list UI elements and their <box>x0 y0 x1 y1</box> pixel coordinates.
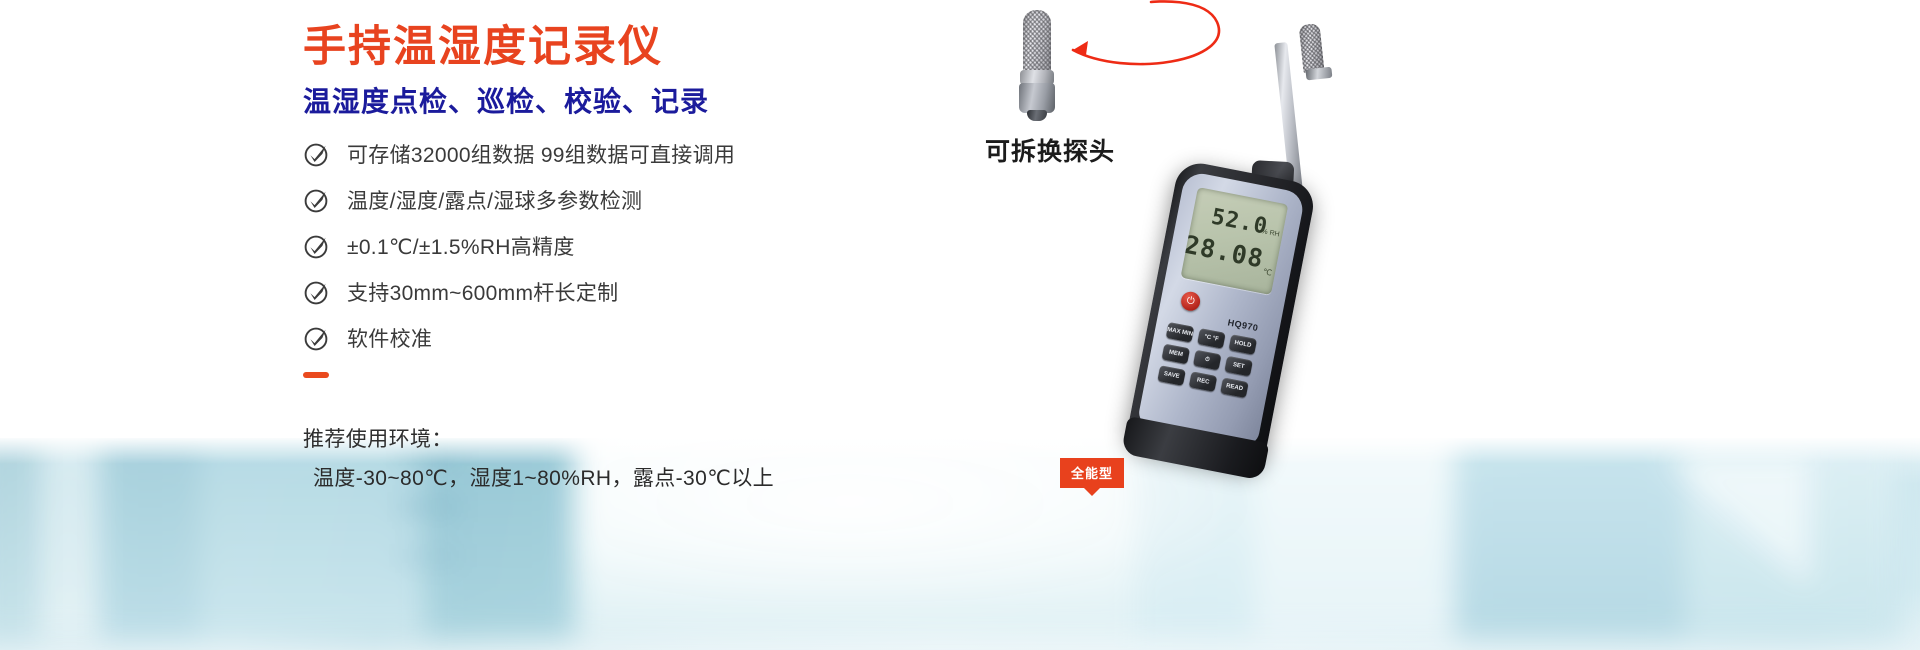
device-probe-mesh <box>1299 23 1325 73</box>
list-item: 支持30mm~600mm杆长定制 <box>303 269 735 315</box>
product-banner: 手持温湿度记录仪 温湿度点检、巡检、校验、记录 可存储32000组数据 99组数… <box>0 0 1920 650</box>
device-key[interactable]: ⏱ <box>1193 350 1222 371</box>
background-blur-layer <box>0 438 1920 650</box>
device-keypad: MAX MIN °C °F HOLD MEM ⏱ SET SAVE REC RE… <box>1146 321 1269 437</box>
list-item-label: 温度/湿度/露点/湿球多参数检测 <box>347 185 642 215</box>
list-item: 温度/湿度/露点/湿球多参数检测 <box>303 177 735 223</box>
device-key[interactable]: SAVE <box>1157 365 1186 386</box>
temperature-unit: ℃ <box>1262 267 1273 278</box>
background-photo-band <box>0 438 1920 650</box>
device-key[interactable]: READ <box>1220 377 1249 398</box>
device-lcd-screen: HENGKO 52.0 % RH 28.08 ℃ <box>1180 187 1288 295</box>
list-item-label: 软件校准 <box>347 323 432 353</box>
check-circle-icon <box>303 232 331 260</box>
page-title: 手持温湿度记录仪 <box>303 12 663 74</box>
check-circle-icon <box>303 140 331 168</box>
bg-shelf <box>400 500 460 514</box>
list-item-label: 可存储32000组数据 99组数据可直接调用 <box>347 139 735 169</box>
device-key[interactable]: SET <box>1224 356 1253 377</box>
device-key[interactable]: REC <box>1189 371 1218 392</box>
bg-column <box>0 438 40 638</box>
check-circle-icon <box>303 324 331 352</box>
device-key[interactable]: MEM <box>1162 344 1191 365</box>
list-item-label: 支持30mm~600mm杆长定制 <box>347 277 618 307</box>
list-item: 可存储32000组数据 99组数据可直接调用 <box>303 131 735 177</box>
environment-title: 推荐使用环境： <box>303 423 453 453</box>
bg-shelf <box>400 550 460 562</box>
list-item-label: ±0.1℃/±1.5%RH高精度 <box>347 231 575 261</box>
environment-detail: 温度-30~80℃，湿度1~80%RH，露点-30℃以上 <box>313 462 774 492</box>
feature-list: 可存储32000组数据 99组数据可直接调用 温度/湿度/露点/湿球多参数检测 … <box>303 131 735 361</box>
check-circle-icon <box>303 186 331 214</box>
check-circle-icon <box>303 278 331 306</box>
bg-column <box>40 438 100 638</box>
bg-column <box>1455 438 1685 638</box>
bg-highlight-triangle <box>1660 458 1810 588</box>
page-subtitle: 温湿度点检、巡检、校验、记录 <box>303 80 709 120</box>
device-probe-collar <box>1305 67 1332 81</box>
list-item: 软件校准 <box>303 315 735 361</box>
status-badge: 全能型 <box>1060 458 1124 488</box>
list-item: ±0.1℃/±1.5%RH高精度 <box>303 223 735 269</box>
product-device-image: HENGKO 52.0 % RH 28.08 ℃ ⏻ HQ970 MAX MIN… <box>1030 0 1390 650</box>
dash-divider <box>303 372 329 378</box>
bg-column <box>100 438 200 638</box>
